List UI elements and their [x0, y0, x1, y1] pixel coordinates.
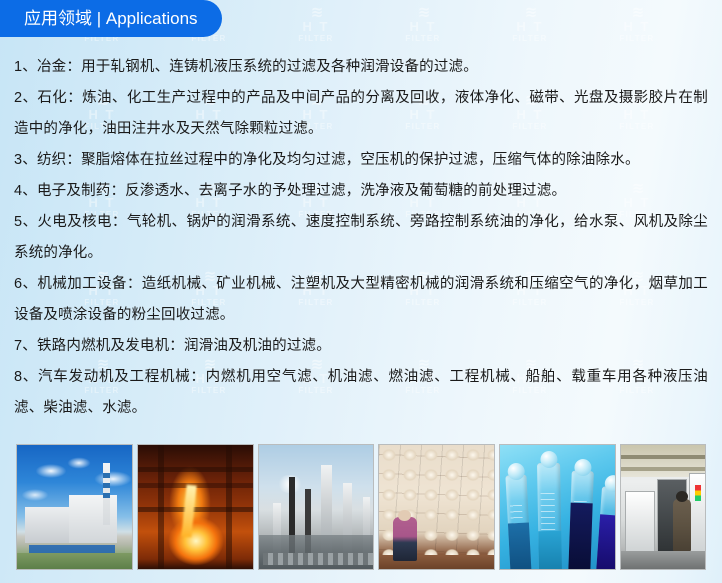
application-item-automotive: 8、汽车发动机及工程机械：内燃机用空气滤、机油滤、燃油滤、工程机械、船舶、载重车…: [14, 362, 708, 424]
ht-filter-watermark-icon: ≋H TFILTER: [274, 6, 358, 44]
watermark-wave-icon: ≋: [595, 6, 679, 20]
graduated-cylinder-shape: [596, 486, 616, 570]
page-title: 应用领域 | Applications: [24, 10, 198, 27]
watermark-wave-icon: ≋: [488, 6, 572, 20]
cylinder-stopper-shape: [604, 475, 616, 493]
ht-filter-watermark-icon: ≋H TFILTER: [488, 6, 572, 44]
andon-light-shape: [695, 485, 701, 501]
steel-furnace-photo: [137, 444, 254, 570]
application-item-petrochemical: 2、石化：炼油、化工生产过程中的产品及中间产品的分离及回收，液体净化、磁带、光盘…: [14, 83, 708, 145]
applications-page: ≋H TFILTER≋H TFILTER≋H TFILTER≋H TFILTER…: [0, 0, 722, 583]
watermark-brand-text: H T: [381, 20, 465, 34]
cylinder-liquid-shape: [539, 531, 563, 570]
cnc-machine-photo: [620, 444, 706, 570]
refinery-deck-shape: [259, 535, 374, 569]
application-item-thermal-nuclear-power: 5、火电及核电：气轮机、锅炉的润滑系统、速度控制系统、旁路控制系统油的净化，给水…: [14, 207, 708, 269]
watermark-sub-text: FILTER: [381, 34, 465, 44]
molten-pour-shape: [181, 485, 196, 538]
power-plant-photo: [16, 444, 133, 570]
watermark-wave-icon: ≋: [381, 6, 465, 20]
watermark-sub-text: FILTER: [488, 34, 572, 44]
application-photo-strip: [16, 444, 706, 570]
machine-operator-shape: [673, 499, 691, 551]
ht-filter-watermark-icon: ≋H TFILTER: [595, 6, 679, 44]
furnace-beams-shape: [138, 467, 253, 472]
watermark-sub-text: FILTER: [702, 34, 722, 44]
watermark-brand-text: H T: [488, 20, 572, 34]
watermark-wave-icon: ≋: [274, 6, 358, 20]
application-item-metallurgy: 1、冶金：用于轧钢机、连铸机液压系统的过滤及各种润滑设备的过滤。: [14, 52, 708, 83]
ht-filter-watermark-icon: ≋H TFILTER: [702, 6, 722, 44]
watermark-brand-text: H T: [274, 20, 358, 34]
plant-ground-shape: [17, 553, 132, 569]
textile-mill-photo: [378, 444, 495, 570]
ht-filter-watermark-icon: ≋H TFILTER: [381, 6, 465, 44]
lab-glassware-photo: [499, 444, 616, 570]
textile-worker-shape: [393, 517, 417, 561]
graduated-cylinder-shape: [537, 463, 562, 570]
application-item-electronics-pharma: 4、电子及制药：反渗透水、去离子水的予处理过滤，洗净液及葡萄糖的前处理过滤。: [14, 176, 708, 207]
watermark-brand-text: H T: [702, 20, 722, 34]
watermark-wave-icon: ≋: [702, 6, 722, 20]
watermark-sub-text: FILTER: [274, 34, 358, 44]
applications-list: 1、冶金：用于轧钢机、连铸机液压系统的过滤及各种润滑设备的过滤。 2、石化：炼油…: [14, 52, 708, 424]
cylinder-liquid-shape: [569, 503, 593, 570]
cylinder-stopper-shape: [507, 463, 525, 481]
application-item-machining-equipment: 6、机械加工设备：造纸机械、矿业机械、注塑机及大型精密机械的润滑系统和压缩空气的…: [14, 269, 708, 331]
cylinder-stopper-shape: [540, 451, 557, 468]
workshop-floor-shape: [621, 551, 705, 569]
graduated-cylinder-shape: [506, 475, 532, 570]
refinery-photo: [258, 444, 375, 570]
cylinder-stopper-shape: [574, 459, 592, 477]
cooling-pond-shape: [29, 545, 115, 553]
watermark-sub-text: FILTER: [595, 34, 679, 44]
watermark-brand-text: H T: [595, 20, 679, 34]
cylinder-liquid-shape: [508, 522, 532, 570]
graduated-cylinder-shape: [569, 471, 595, 570]
application-item-railway-engines: 7、铁路内燃机及发电机：润滑油及机油的过滤。: [14, 331, 708, 362]
cylinder-liquid-shape: [596, 514, 616, 570]
chimney-stack-shape: [103, 463, 110, 525]
cnc-machine-shape: [625, 491, 655, 553]
section-header-badge: 应用领域 | Applications: [0, 0, 222, 37]
furnace-columns-shape: [158, 445, 164, 569]
application-item-textile: 3、纺织：聚脂熔体在拉丝过程中的净化及均匀过滤，空压机的保护过滤，压缩气体的除油…: [14, 145, 708, 176]
